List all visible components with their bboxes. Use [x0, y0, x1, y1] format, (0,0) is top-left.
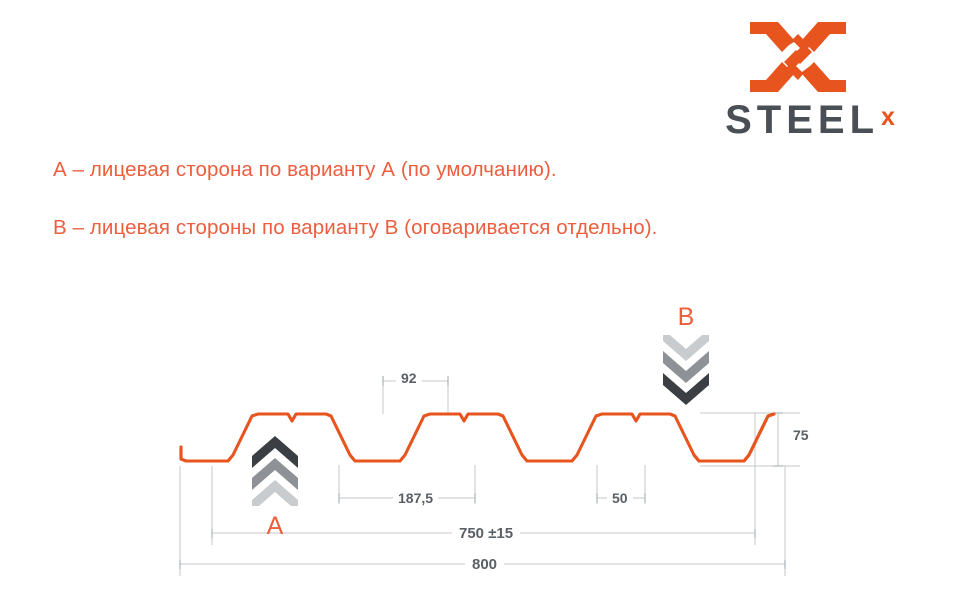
diagram-page: STEEL x А – лицевая сторона по варианту …	[0, 0, 970, 597]
marker-a-label: А	[244, 514, 306, 539]
marker-side-a: А	[244, 434, 306, 539]
dimension-valley-width: 50	[607, 491, 633, 505]
chevron-down-stack-icon	[661, 335, 711, 407]
marker-side-b: В	[655, 305, 717, 410]
dimension-rib-top-width: 92	[396, 371, 422, 385]
marker-b-label: В	[655, 305, 717, 330]
chevron-up-stack-icon	[250, 434, 300, 506]
dimension-working-width: 750 ±15	[452, 526, 520, 541]
dimension-profile-height: 75	[789, 428, 813, 442]
profile-right-lip	[694, 414, 774, 461]
dimension-pitch: 187,5	[393, 491, 438, 505]
profile-drawing	[0, 0, 970, 597]
dimension-overall-width: 800	[465, 557, 504, 572]
